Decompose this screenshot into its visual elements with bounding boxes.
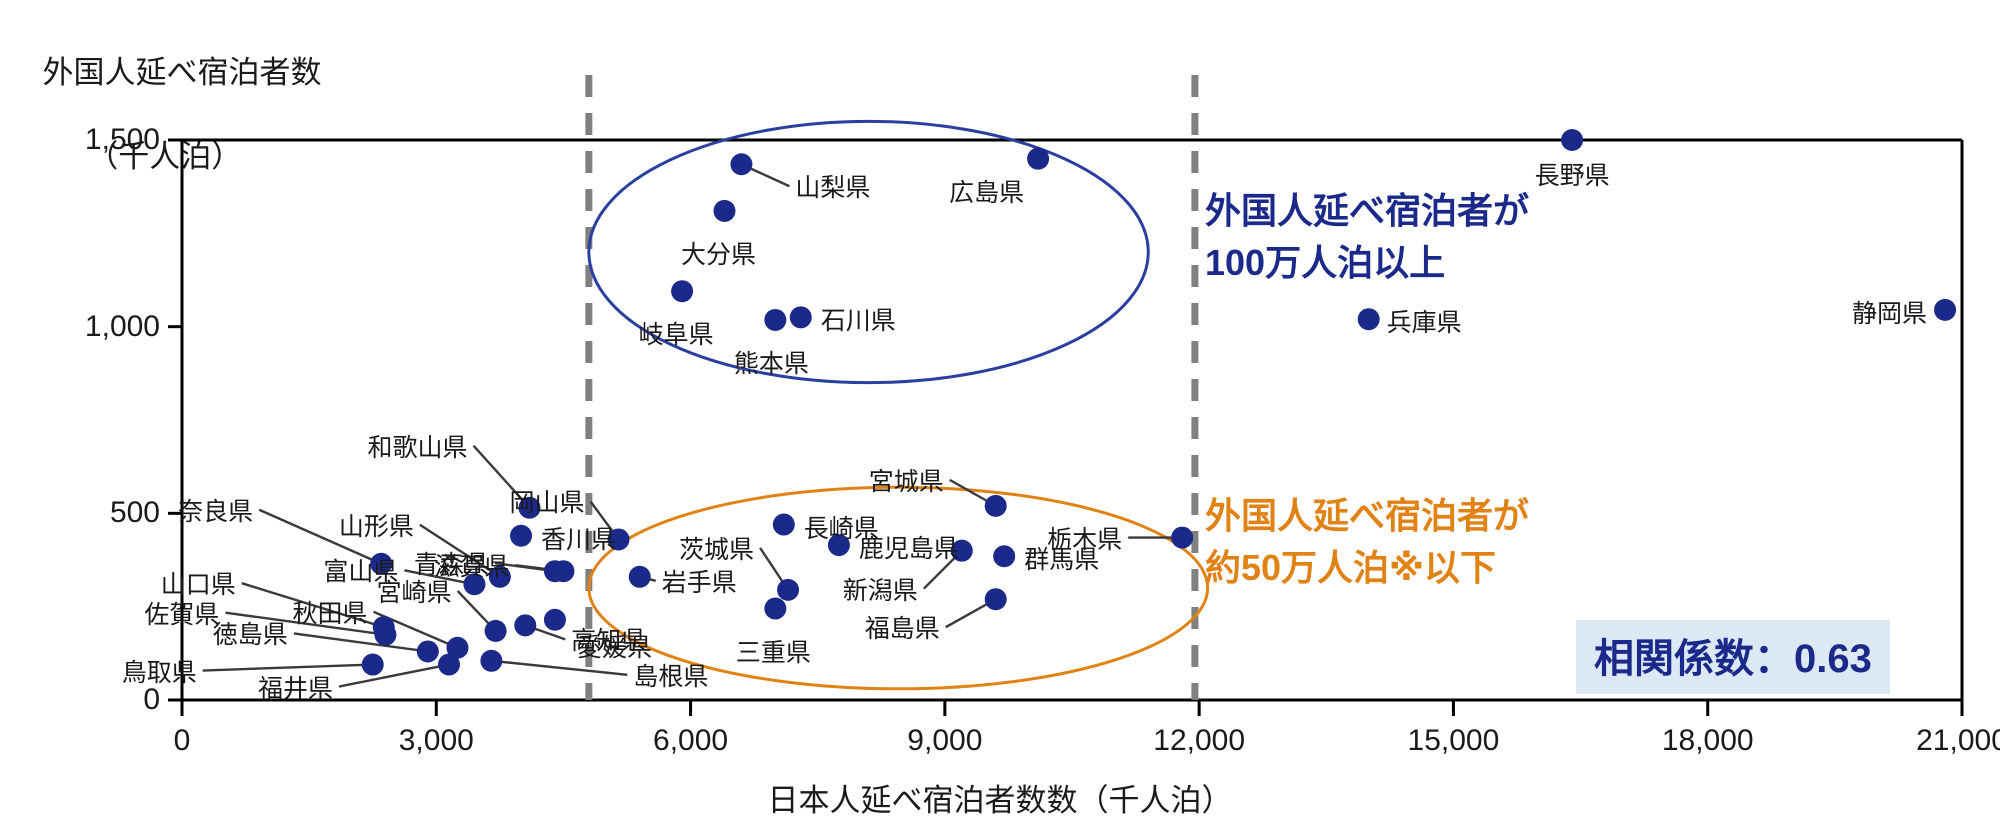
point-label-島根県: 島根県 [633,657,708,693]
point-label-高知県: 高知県 [571,621,646,657]
point-label-鳥取県: 鳥取県 [122,653,197,689]
x-tick-label: 3,000 [399,724,474,758]
point-label-兵庫県: 兵庫県 [1387,303,1462,339]
data-point [544,609,566,631]
data-point [1358,308,1380,330]
data-point [993,545,1015,567]
correlation-badge: 相関係数：0.63 [1576,620,1890,694]
point-label-広島県: 広島県 [949,173,1024,209]
y-tick-label: 1,500 [30,123,160,157]
data-point [764,598,786,620]
point-label-岩手県: 岩手県 [662,563,737,599]
data-point [362,654,384,676]
data-point [790,306,812,328]
point-label-鹿児島県: 鹿児島県 [859,529,959,565]
point-label-三重県: 三重県 [736,633,811,669]
point-label-岐阜県: 岐阜県 [639,315,714,351]
data-point [510,525,532,547]
data-point [1934,299,1956,321]
x-tick-label: 0 [174,724,191,758]
data-point [438,654,460,676]
point-label-奈良県: 奈良県 [178,492,253,528]
x-tick-label: 18,000 [1662,724,1754,758]
point-label-長野県: 長野県 [1535,156,1610,192]
data-point [671,280,693,302]
point-label-山形県: 山形県 [339,507,414,543]
data-points-group [362,129,1956,676]
x-tick-label: 6,000 [653,724,728,758]
point-label-熊本県: 熊本県 [734,344,809,380]
data-point [1027,148,1049,170]
data-point [374,624,396,646]
point-label-静岡県: 静岡県 [1852,294,1927,330]
annotation-lower-cluster: 外国人延べ宿泊者が 約50万人泊※以下 [1205,490,1529,594]
data-point [480,650,502,672]
y-tick-label: 1,000 [30,310,160,344]
point-label-岡山県: 岡山県 [510,483,585,519]
data-point [485,620,507,642]
point-label-群馬県: 群馬県 [1024,540,1099,576]
x-tick-label: 12,000 [1153,724,1245,758]
data-point [764,309,786,331]
point-label-新潟県: 新潟県 [843,571,918,607]
data-point [514,614,536,636]
x-tick-label: 9,000 [907,724,982,758]
correlation-label: 相関係数：0.63 [1594,637,1872,681]
data-point [985,495,1007,517]
point-label-徳島県: 徳島県 [213,615,288,651]
data-point [713,200,735,222]
x-tick-label: 21,000 [1916,724,2000,758]
x-tick-label: 15,000 [1408,724,1500,758]
point-label-大分県: 大分県 [681,235,756,271]
point-label-佐賀県: 佐賀県 [144,595,219,631]
point-label-福井県: 福井県 [258,669,333,705]
point-label-秋田県: 秋田県 [292,594,367,630]
point-label-福島県: 福島県 [865,609,940,645]
data-point [1561,129,1583,151]
data-point [773,514,795,536]
point-label-宮崎県: 宮崎県 [377,573,452,609]
data-point [417,640,439,662]
plot-svg [0,0,2000,840]
annotation-upper-cluster: 外国人延べ宿泊者が 100万人泊以上 [1205,185,1529,289]
point-label-石川県: 石川県 [821,301,896,337]
data-point [777,579,799,601]
data-point [629,566,651,588]
point-label-茨城県: 茨城県 [679,530,754,566]
point-label-山梨県: 山梨県 [795,168,870,204]
point-label-和歌山県: 和歌山県 [368,428,468,464]
point-label-宮城県: 宮城県 [869,462,944,498]
y-tick-label: 500 [30,496,160,530]
chart-canvas: 外国人延べ宿泊者数 （千人泊） 日本人延べ宿泊者数数（千人泊） 05001,00… [0,0,2000,840]
point-label-香川県: 香川県 [541,520,616,556]
data-point [1171,527,1193,549]
data-point [730,153,752,175]
data-point [985,588,1007,610]
data-point [544,560,566,582]
